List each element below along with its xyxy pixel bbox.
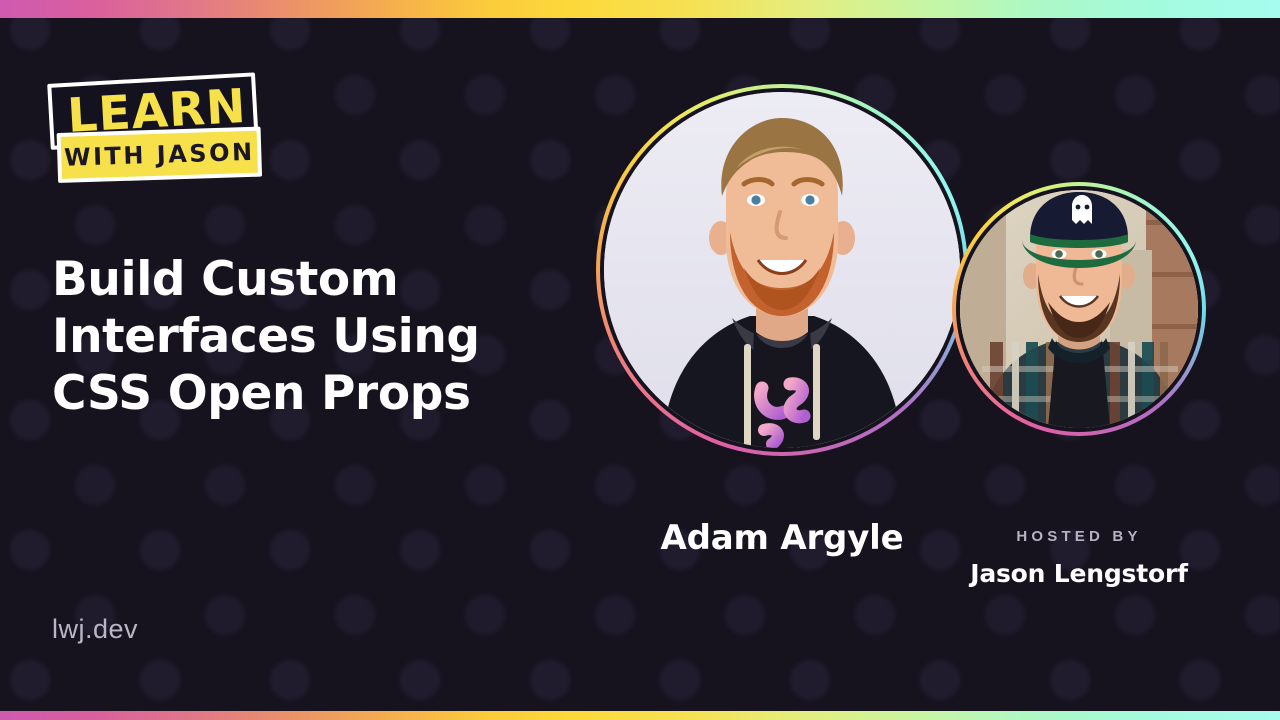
episode-title: Build Custom Interfaces Using CSS Open P… <box>52 252 522 423</box>
host-credit: HOSTED BY Jason Lengstorf <box>952 528 1206 588</box>
top-gradient-rail <box>0 0 1280 18</box>
guest-name: Adam Argyle <box>596 518 968 558</box>
host-avatar <box>952 182 1206 436</box>
logo-band: WITH JASON <box>57 127 262 183</box>
episode-promo-card: LEARN WITH JASON Build Custom Interfaces… <box>0 0 1280 720</box>
site-url[interactable]: lwj.dev <box>52 614 138 645</box>
guest-portrait-illustration <box>604 92 960 448</box>
host-name: Jason Lengstorf <box>952 559 1206 588</box>
host-avatar-photo <box>960 190 1198 428</box>
hosted-by-label: HOSTED BY <box>952 528 1206 545</box>
guest-avatar-photo <box>604 92 960 448</box>
learn-with-jason-logo[interactable]: LEARN WITH JASON <box>43 70 267 192</box>
host-portrait-illustration <box>960 190 1198 428</box>
bottom-gradient-rail <box>0 711 1280 720</box>
logo-with-jason-text: WITH JASON <box>57 127 262 183</box>
guest-avatar <box>596 84 968 456</box>
